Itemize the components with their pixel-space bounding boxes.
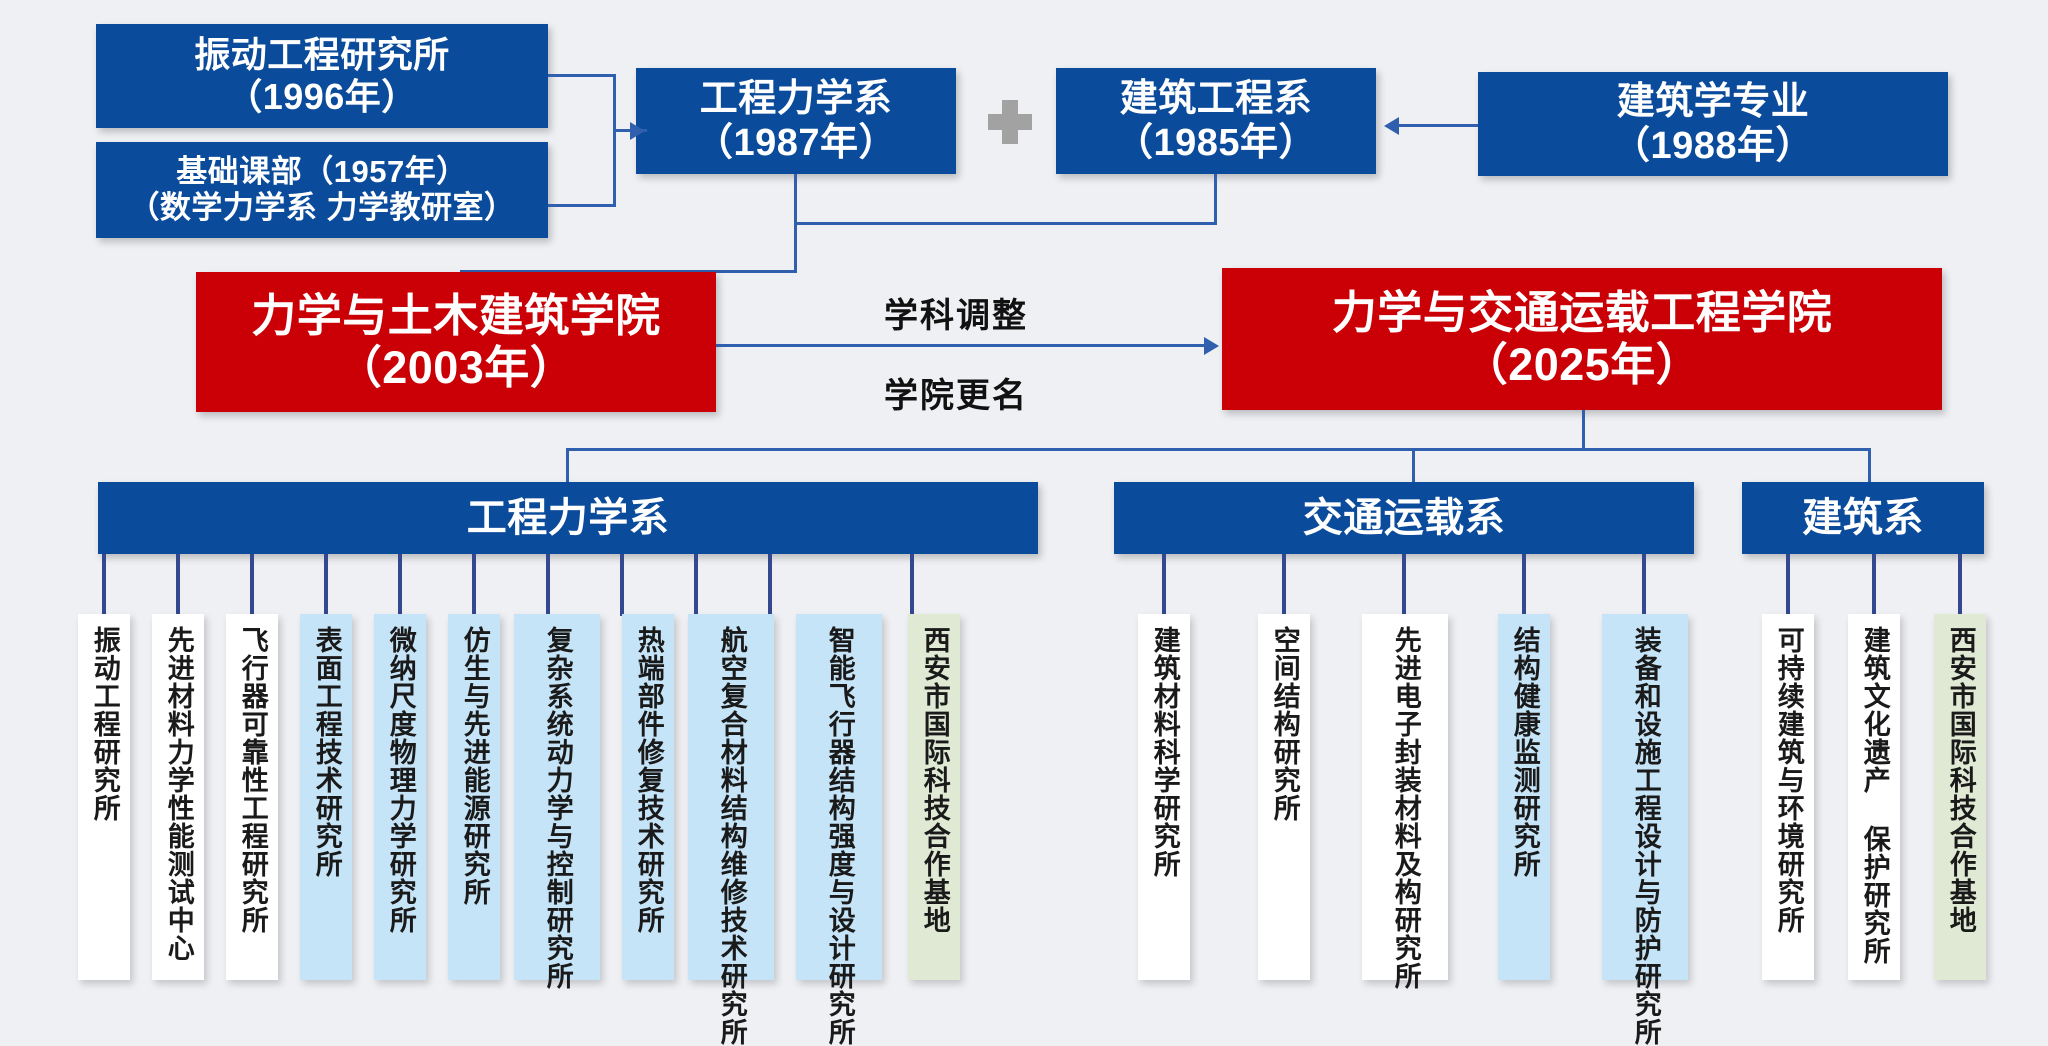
connector-join-down [794,222,797,272]
leaf-label: 表面工程技术研究所 [312,626,340,878]
transition-label-line2: 学院更名 [884,377,1028,415]
connector-basic-out [548,204,616,207]
arrow-to-civil-engineering [1384,117,1399,135]
connector-arch-major-left [1398,124,1478,127]
connector-new-college-down [1582,410,1585,450]
leaf-label: 复杂系统动力学与控制研究所 [543,626,571,861]
stem-tr-2 [1402,554,1406,616]
node-architecture-major[interactable]: 建筑学专业 （1988年） [1478,72,1948,176]
connector-left-merge [613,74,616,207]
leaf-label: 可持续建筑与环境研究所 [1774,626,1802,934]
node-vibration-institute-label: 振动工程研究所 （1996年） [194,34,450,118]
stem-em-1 [176,554,180,616]
leaf-card[interactable]: 西安市国际科技合作基地 [908,614,960,980]
connector-dept-tr-drop [1412,448,1415,484]
leaf-label: 建筑材料科学研究所 [1150,626,1178,878]
leaf-card[interactable]: 飞行器可靠性工程研究所 [226,614,278,980]
stem-ar-2 [1958,554,1962,616]
stem-em-4 [398,554,402,616]
transition-label-discipline-adjust: 学科调整 [884,288,1028,337]
node-old-college-label: 力学与土木建筑学院 （2003年） [251,290,661,394]
connector-dept-bus [566,448,1870,451]
connector-em-down [794,174,797,224]
stem-tr-0 [1162,554,1166,616]
node-engineering-mechanics-dept[interactable]: 工程力学系 （1987年） [636,68,956,174]
leaf-card[interactable]: 先进材料力学性能测试中心 [152,614,204,980]
leaf-card[interactable]: 装备和设施工程设计与防护研究所 [1602,614,1688,980]
leaf-label: 振动工程研究所 [90,626,118,822]
dept-header-engineering-mechanics[interactable]: 工程力学系 [98,482,1038,554]
leaf-card[interactable]: 建筑材料科学研究所 [1138,614,1190,980]
node-basic-course-dept[interactable]: 基础课部（1957年） （数学力学系 力学教研室） [96,142,548,238]
stem-ar-0 [1786,554,1790,616]
leaf-card[interactable]: 智能飞行器结构强度与设计研究所 [796,614,882,980]
stem-tr-4 [1642,554,1646,616]
leaf-card[interactable]: 空间结构研究所 [1258,614,1310,980]
leaf-label: 先进电子封装材料及构研究所 [1391,626,1419,831]
node-engineering-mechanics-dept-label: 工程力学系 （1987年） [695,77,897,165]
leaf-label: 装备和设施工程设计与防护研究所 [1631,626,1659,831]
stem-em-7 [620,554,624,616]
leaf-label: 西安市国际科技合作基地 [920,626,948,934]
stem-em-10 [910,554,914,616]
leaf-card[interactable]: 微纳尺度物理力学研究所 [374,614,426,980]
transition-label-college-rename: 学院更名 [884,368,1028,417]
node-old-college[interactable]: 力学与土木建筑学院 （2003年） [196,272,716,412]
leaf-card[interactable]: 热端部件修复技术研究所 [622,614,674,980]
node-civil-engineering-dept-label: 建筑工程系 （1985年） [1115,77,1317,165]
leaf-label: 微纳尺度物理力学研究所 [386,626,414,934]
org-chart-canvas: 振动工程研究所 （1996年） 基础课部（1957年） （数学力学系 力学教研室… [0,0,2048,1012]
dept-header-architecture-label: 建筑系 [1802,495,1924,541]
leaf-label: 空间结构研究所 [1270,626,1298,822]
leaf-label: 智能飞行器结构强度与设计研究所 [825,626,853,861]
leaf-card[interactable]: 西安市国际科技合作基地 [1934,614,1986,980]
dept-header-architecture[interactable]: 建筑系 [1742,482,1984,554]
transition-label-line1: 学科调整 [884,297,1028,335]
leaf-card[interactable]: 振动工程研究所 [78,614,130,980]
leaf-card[interactable]: 结构健康监测研究所 [1498,614,1550,980]
node-new-college-label: 力学与交通运载工程学院 （2025年） [1332,287,1833,391]
plus-icon [988,100,1032,144]
dept-header-engineering-mechanics-label: 工程力学系 [467,495,670,541]
dept-header-transportation[interactable]: 交通运载系 [1114,482,1694,554]
leaf-card[interactable]: 仿生与先进能源研究所 [448,614,500,980]
leaf-label: 先进材料力学性能测试中心 [164,626,192,962]
node-basic-course-dept-label: 基础课部（1957年） （数学力学系 力学教研室） [128,154,515,226]
stem-tr-3 [1522,554,1526,616]
node-new-college[interactable]: 力学与交通运载工程学院 （2025年） [1222,268,1942,410]
leaf-label: 结构健康监测研究所 [1510,626,1538,878]
leaf-card[interactable]: 表面工程技术研究所 [300,614,352,980]
stem-em-2 [250,554,254,616]
leaf-card[interactable]: 可持续建筑与环境研究所 [1762,614,1814,980]
connector-dept-em-drop [566,448,569,484]
stem-em-6 [546,554,550,616]
node-vibration-institute[interactable]: 振动工程研究所 （1996年） [96,24,548,128]
leaf-label: 西安市国际科技合作基地 [1946,626,1974,934]
stem-tr-1 [1282,554,1286,616]
stem-em-0 [102,554,106,616]
leaf-label: 仿生与先进能源研究所 [460,626,488,906]
leaf-card[interactable]: 复杂系统动力学与控制研究所 [514,614,600,980]
leaf-label: 建筑文化遗产 保护研究所 [1860,626,1888,965]
node-architecture-major-label: 建筑学专业 （1988年） [1612,80,1814,168]
leaf-card[interactable]: 先进电子封装材料及构研究所 [1362,614,1448,980]
stem-em-8 [694,554,698,616]
arrow-to-new-college [1204,337,1219,355]
arrow-to-engineering-mechanics [630,122,645,140]
connector-vibration-out [548,74,616,77]
connector-college-transition [716,344,1208,347]
dept-header-transportation-label: 交通运载系 [1303,495,1506,541]
leaf-label: 热端部件修复技术研究所 [634,626,662,934]
stem-em-3 [324,554,328,616]
stem-em-9 [768,554,772,616]
connector-em-ce-join [794,222,1217,225]
node-civil-engineering-dept[interactable]: 建筑工程系 （1985年） [1056,68,1376,174]
connector-dept-arch-drop [1868,448,1871,484]
stem-em-5 [472,554,476,616]
stem-ar-1 [1872,554,1876,616]
leaf-label: 航空复合材料结构维修技术研究所 [717,626,745,861]
leaf-label: 飞行器可靠性工程研究所 [238,626,266,934]
leaf-card[interactable]: 航空复合材料结构维修技术研究所 [688,614,774,980]
connector-ce-down [1214,174,1217,224]
leaf-card[interactable]: 建筑文化遗产 保护研究所 [1848,614,1900,980]
